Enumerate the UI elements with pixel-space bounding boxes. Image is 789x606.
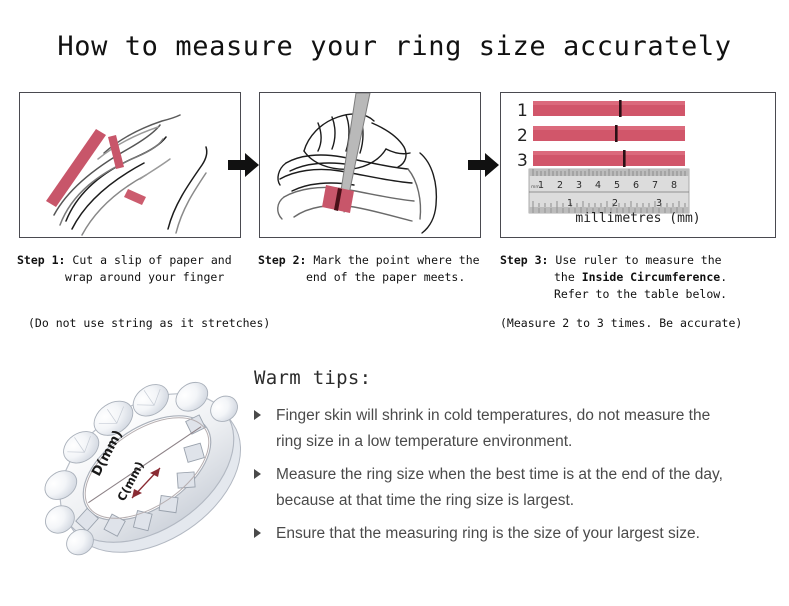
ruler-shape: 1 2 3 4 5 6 7 8 mm 1 2 3 xyxy=(529,169,689,213)
warm-tip-item: Measure the ring size when the best time… xyxy=(254,462,724,514)
step-1-lead: Step 1: xyxy=(17,253,65,267)
step-3-line2: the Inside Circumference. xyxy=(500,269,780,286)
warm-tip-item: Finger skin will shrink in cold temperat… xyxy=(254,403,724,455)
step-3-line3: Refer to the table below. xyxy=(500,286,780,303)
arrow-step1-to-step2 xyxy=(228,150,260,180)
svg-text:mm: mm xyxy=(531,185,540,190)
svg-text:5: 5 xyxy=(614,180,620,191)
step-3-lead: Step 3: xyxy=(500,253,548,267)
steps-panel-row: 1 2 3 xyxy=(0,92,789,242)
triangle-bullet-icon xyxy=(254,469,261,479)
svg-text:8: 8 xyxy=(671,180,677,191)
warm-tip-text: Finger skin will shrink in cold temperat… xyxy=(276,407,710,450)
step-2-line2: end of the paper meets. xyxy=(258,269,490,286)
step-1-line2: wrap around your finger xyxy=(17,269,249,286)
warm-tip-text: Measure the ring size when the best time… xyxy=(276,466,723,509)
svg-text:4: 4 xyxy=(595,180,601,191)
step-1-panel xyxy=(19,92,241,238)
step-1-note: (Do not use string as it stretches) xyxy=(28,316,270,330)
step-2-line1: Mark the point where the xyxy=(313,253,479,267)
step-1-line1: Cut a slip of paper and xyxy=(72,253,231,267)
step-3-inside-circumference: Inside Circumference xyxy=(582,270,720,284)
ring-diagram: D(mm) C(mm) xyxy=(36,352,258,584)
strip-label-2: 2 xyxy=(517,126,528,146)
svg-text:6: 6 xyxy=(633,180,639,191)
svg-text:2: 2 xyxy=(557,180,563,191)
arrow-step2-to-step3 xyxy=(468,150,500,180)
svg-text:3: 3 xyxy=(576,180,582,191)
step-3-line2-suffix: . xyxy=(720,270,727,284)
step-3-panel: 1 2 3 xyxy=(500,92,776,238)
step-3-line1: Use ruler to measure the xyxy=(555,253,721,267)
warm-tips-heading: Warm tips: xyxy=(254,367,754,389)
hand-with-paper-strip-icon xyxy=(20,93,240,237)
step-3-line2-prefix: the xyxy=(554,270,582,284)
paper-strip-shape xyxy=(46,129,146,207)
hand-marking-paper-with-pencil-icon xyxy=(260,93,480,237)
ruler-caption: millimetres (mm) xyxy=(501,211,775,226)
step-3-note: (Measure 2 to 3 times. Be accurate) xyxy=(500,316,742,330)
triangle-bullet-icon xyxy=(254,410,261,420)
warm-tip-item: Ensure that the measuring ring is the si… xyxy=(254,521,724,547)
step-2-lead: Step 2: xyxy=(258,253,306,267)
step-2-panel xyxy=(259,92,481,238)
page-title: How to measure your ring size accurately xyxy=(0,31,789,62)
warm-tip-text: Ensure that the measuring ring is the si… xyxy=(276,525,700,542)
step-1-caption: Step 1: Cut a slip of paper and wrap aro… xyxy=(17,252,249,286)
triangle-bullet-icon xyxy=(254,528,261,538)
warm-tips-block: Warm tips: Finger skin will shrink in co… xyxy=(254,367,754,554)
strip-label-3: 3 xyxy=(517,151,528,171)
step-2-caption: Step 2: Mark the point where the end of … xyxy=(258,252,490,286)
step-3-caption: Step 3: Use ruler to measure the the Ins… xyxy=(500,252,780,303)
svg-text:7: 7 xyxy=(652,180,658,191)
strip-label-1: 1 xyxy=(517,101,528,121)
